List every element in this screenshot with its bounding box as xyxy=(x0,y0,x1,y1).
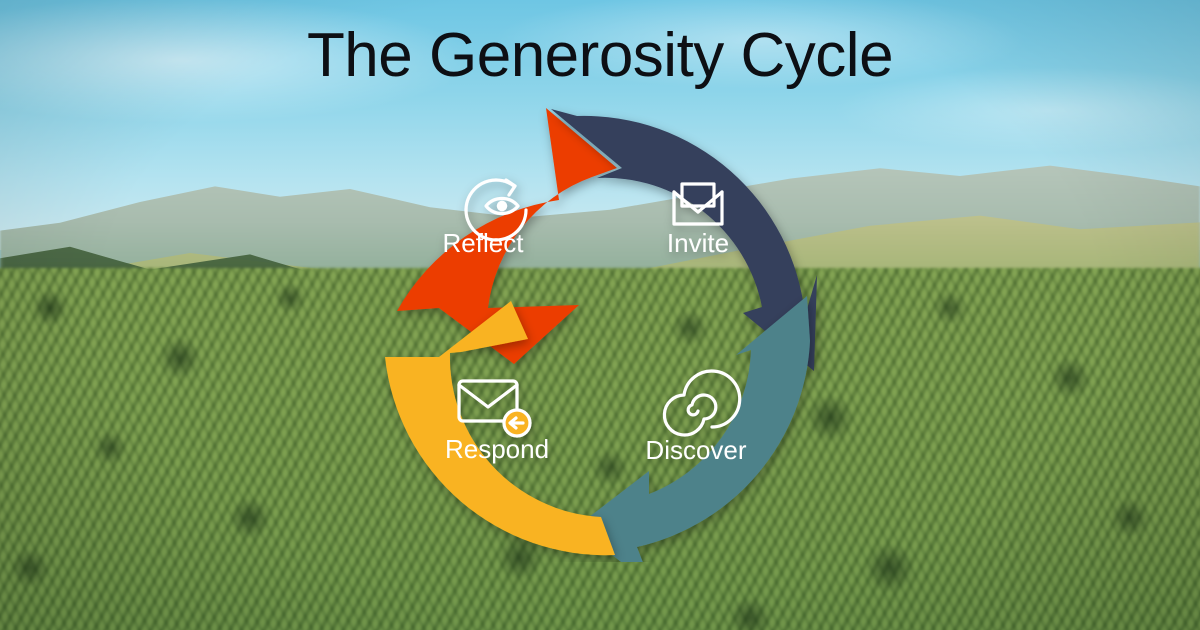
slide-canvas: The Generosity Cycle Reflect xyxy=(0,0,1200,630)
envelope-reply-icon xyxy=(459,381,530,436)
discover-label: Discover xyxy=(645,435,746,465)
generosity-cycle-diagram: Reflect Invite Discover xyxy=(371,92,831,562)
discover-arrow-shape[interactable] xyxy=(576,296,810,562)
cycle-segment-discover[interactable]: Discover xyxy=(576,296,810,562)
page-title: The Generosity Cycle xyxy=(0,22,1200,90)
spiral-icon xyxy=(664,371,739,435)
respond-label: Respond xyxy=(445,434,549,464)
reflect-label: Reflect xyxy=(443,228,525,258)
cycle-svg: Reflect Invite Discover xyxy=(371,92,831,562)
cycle-segment-respond[interactable]: Respond xyxy=(385,301,615,555)
invite-label: Invite xyxy=(667,228,729,258)
respond-arrow-shape[interactable] xyxy=(385,301,615,555)
